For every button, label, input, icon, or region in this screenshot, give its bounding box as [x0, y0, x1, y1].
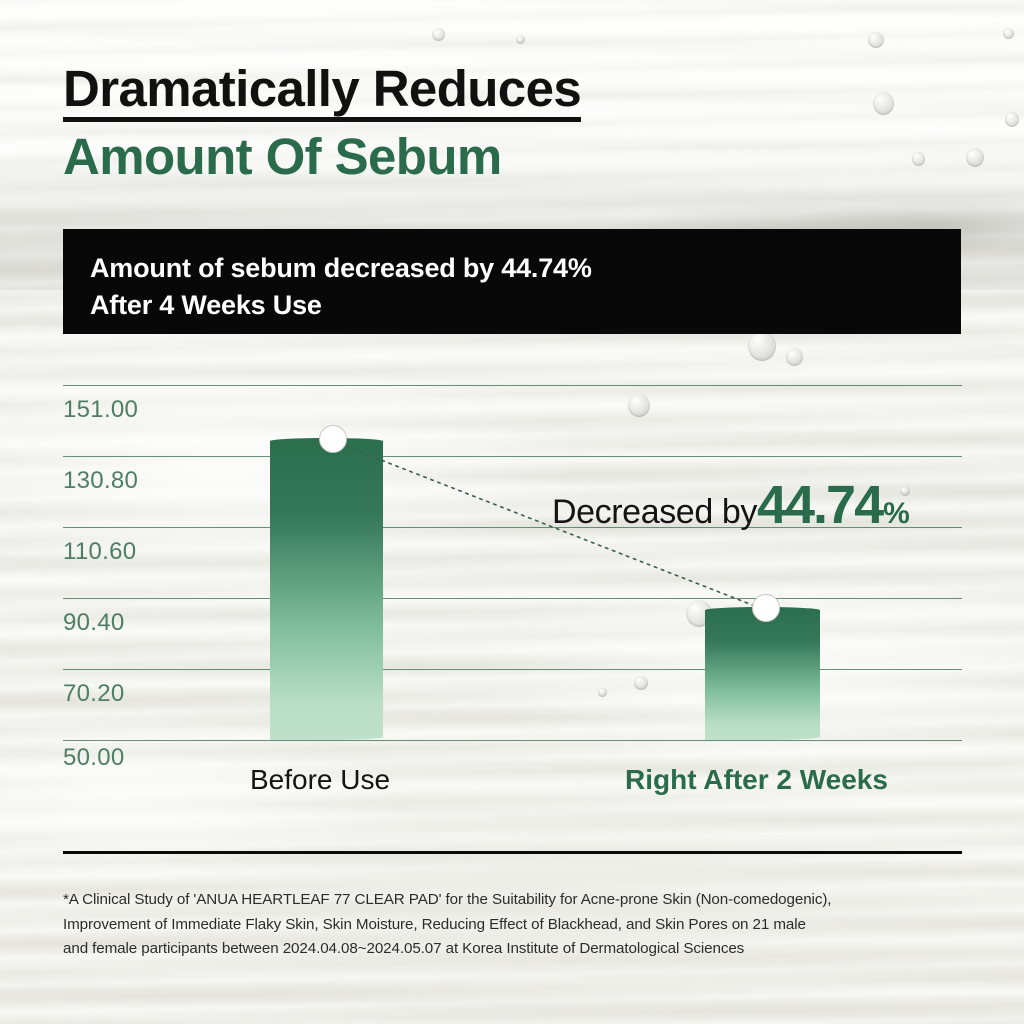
water-droplet-icon [686, 600, 712, 627]
claim-banner-line-2: After 4 Weeks Use [90, 287, 961, 324]
water-droplet-icon [900, 486, 910, 496]
water-droplet-icon [868, 32, 884, 48]
water-droplet-icon [432, 28, 445, 41]
clinical-study-footnote: *A Clinical Study of 'ANUA HEARTLEAF 77 … [63, 888, 975, 962]
water-droplet-icon [966, 148, 984, 167]
water-droplet-icon [516, 35, 525, 44]
headline-line-2: Amount Of Sebum [63, 129, 823, 184]
claim-banner-line-1: Amount of sebum decreased by 44.74% [90, 250, 961, 287]
water-droplet-icon [912, 152, 925, 166]
claim-banner: Amount of sebum decreased by 44.74% Afte… [63, 229, 961, 334]
page-title: Dramatically Reduces Amount Of Sebum [63, 62, 823, 184]
infographic-page: Dramatically Reduces Amount Of Sebum Amo… [0, 0, 1024, 1024]
water-droplet-icon [628, 394, 650, 417]
footnote-line-1: *A Clinical Study of 'ANUA HEARTLEAF 77 … [63, 888, 975, 913]
water-droplet-icon [634, 676, 648, 690]
water-droplet-icon [598, 688, 607, 697]
water-droplet-icon [786, 348, 803, 366]
headline-line-1: Dramatically Reduces [63, 62, 581, 122]
footer-divider [63, 851, 962, 854]
water-droplet-icon [873, 92, 894, 115]
footnote-line-3: and female participants between 2024.04.… [63, 937, 975, 962]
footnote-line-2: Improvement of Immediate Flaky Skin, Ski… [63, 913, 975, 938]
water-droplet-icon [1005, 112, 1019, 127]
water-droplet-icon [748, 331, 776, 361]
water-droplet-icon [1003, 28, 1014, 39]
